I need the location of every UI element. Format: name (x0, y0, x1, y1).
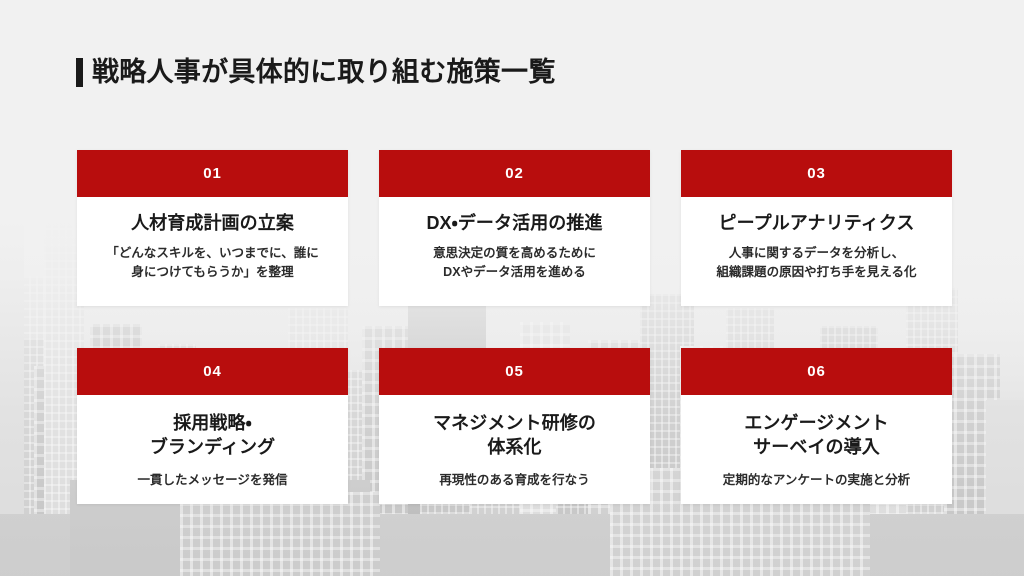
card-number-04: 04 (203, 364, 222, 379)
slide-canvas: 戦略人事が具体的に取り組む施策一覧 01 人材育成計画の立案 「どんなスキルを、… (0, 0, 1024, 576)
card-number-02: 02 (505, 166, 524, 181)
card-body-02: DX・データ活用の推進 意思決定の質を高めるために DXやデータ活用を進める (379, 197, 650, 306)
measure-card-02[interactable]: 02 DX・データ活用の推進 意思決定の質を高めるために DXやデータ活用を進め… (379, 150, 650, 306)
card-body-04: 採用戦略・ ブランディング 一貫したメッセージを発信 (77, 395, 348, 504)
page-title-text: 戦略人事が具体的に取り組む施策一覧 (92, 59, 556, 86)
card-description-06: 定期的なアンケートの実施と分析 (723, 471, 910, 490)
title-accent-bar-icon (76, 58, 83, 87)
card-number-06: 06 (807, 364, 826, 379)
measures-card-grid: 01 人材育成計画の立案 「どんなスキルを、いつまでに、誰に 身につけてもらうか… (77, 150, 951, 504)
card-header-06: 06 (681, 348, 952, 395)
card-description-01: 「どんなスキルを、いつまでに、誰に 身につけてもらうか」を整理 (106, 244, 319, 282)
card-header-03: 03 (681, 150, 952, 197)
card-body-03: ピープルアナリティクス 人事に関するデータを分析し、 組織課題の原因や打ち手を見… (681, 197, 952, 306)
card-title-06: エンゲージメント サーベイの導入 (744, 411, 888, 460)
card-body-05: マネジメント研修の 体系化 再現性のある育成を行なう (379, 395, 650, 504)
card-header-02: 02 (379, 150, 650, 197)
card-title-01: 人材育成計画の立案 (131, 211, 294, 235)
card-body-01: 人材育成計画の立案 「どんなスキルを、いつまでに、誰に 身につけてもらうか」を整… (77, 197, 348, 306)
measure-card-06[interactable]: 06 エンゲージメント サーベイの導入 定期的なアンケートの実施と分析 (681, 348, 952, 504)
card-description-03: 人事に関するデータを分析し、 組織課題の原因や打ち手を見える化 (716, 244, 916, 282)
card-title-05: マネジメント研修の 体系化 (433, 411, 596, 460)
card-header-01: 01 (77, 150, 348, 197)
card-description-05: 再現性のある育成を行なう (439, 471, 589, 490)
card-number-01: 01 (203, 166, 222, 181)
card-body-06: エンゲージメント サーベイの導入 定期的なアンケートの実施と分析 (681, 395, 952, 504)
card-description-04: 一貫したメッセージを発信 (137, 471, 287, 490)
card-number-05: 05 (505, 364, 524, 379)
card-description-02: 意思決定の質を高めるために DXやデータ活用を進める (433, 244, 596, 282)
measure-card-04[interactable]: 04 採用戦略・ ブランディング 一貫したメッセージを発信 (77, 348, 348, 504)
measure-card-05[interactable]: 05 マネジメント研修の 体系化 再現性のある育成を行なう (379, 348, 650, 504)
measure-card-03[interactable]: 03 ピープルアナリティクス 人事に関するデータを分析し、 組織課題の原因や打ち… (681, 150, 952, 306)
measure-card-01[interactable]: 01 人材育成計画の立案 「どんなスキルを、いつまでに、誰に 身につけてもらうか… (77, 150, 348, 306)
card-header-04: 04 (77, 348, 348, 395)
card-title-03: ピープルアナリティクス (719, 211, 915, 235)
card-header-05: 05 (379, 348, 650, 395)
card-number-03: 03 (807, 166, 826, 181)
card-title-02: DX・データ活用の推進 (426, 211, 602, 235)
card-title-04: 採用戦略・ ブランディング (150, 411, 275, 460)
page-title: 戦略人事が具体的に取り組む施策一覧 (76, 58, 556, 87)
